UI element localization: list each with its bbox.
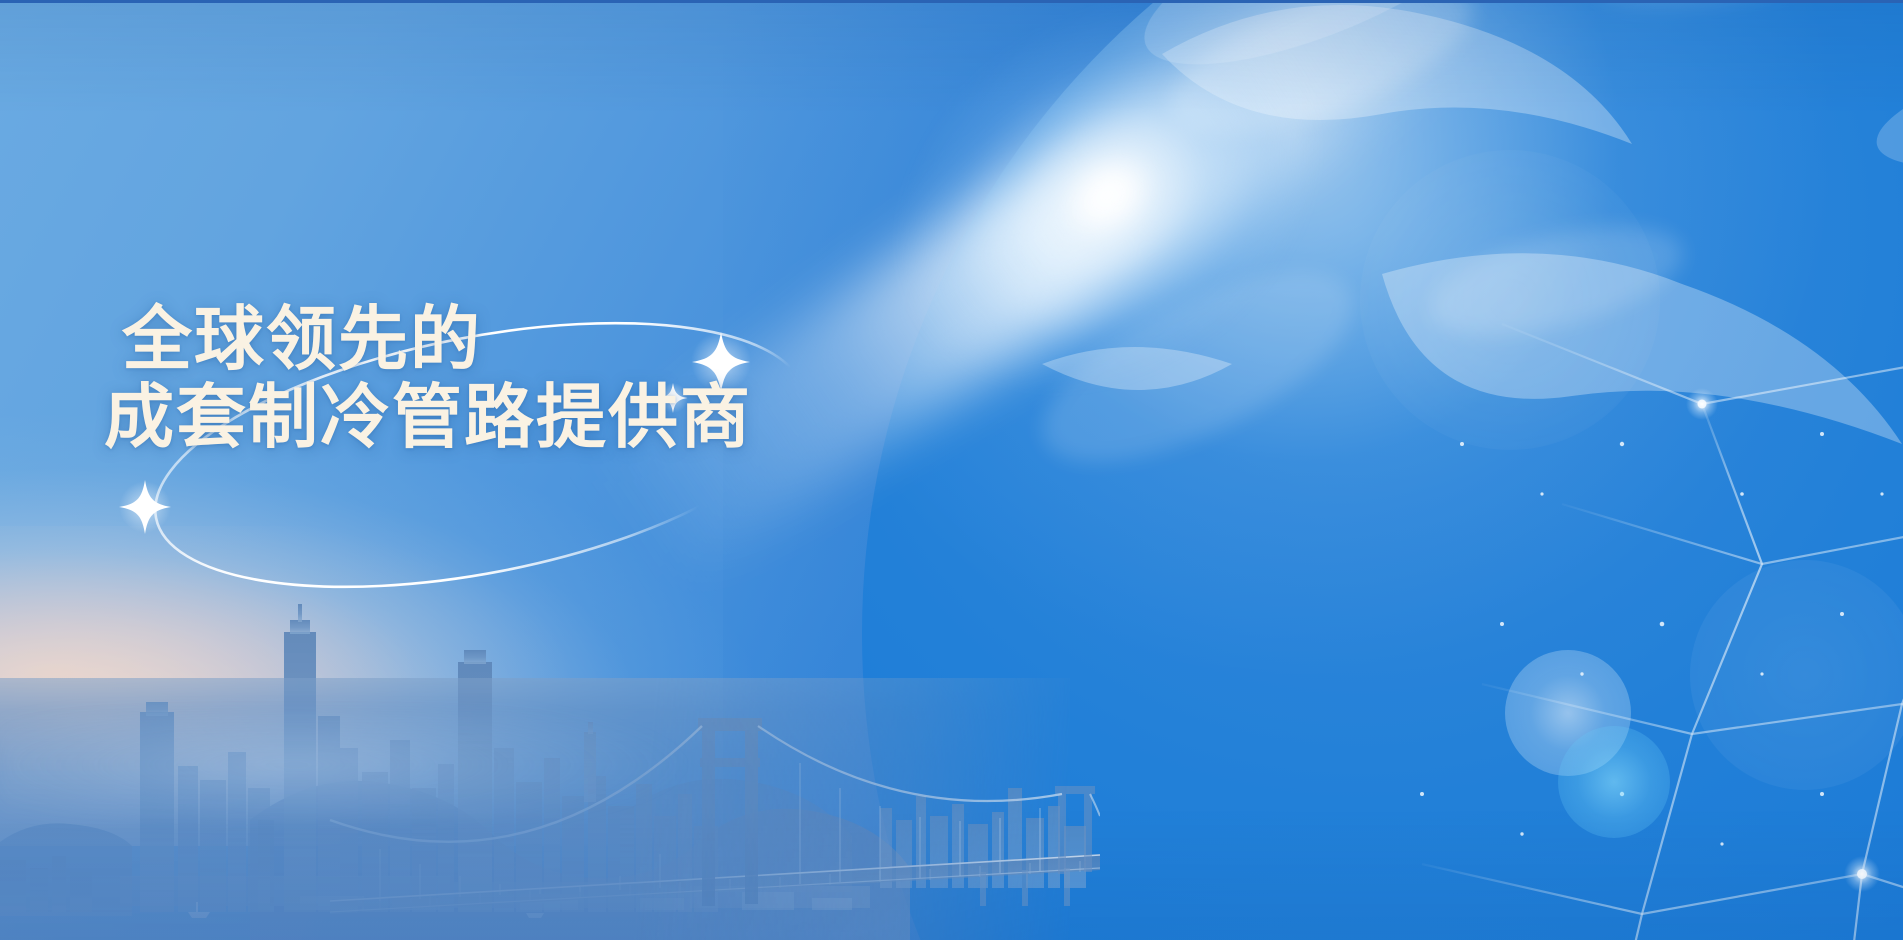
horizon-warm-haze-inner (0, 526, 571, 770)
headline-line-2: 成套制冷管路提供商 (104, 378, 864, 456)
sky-deep-blue-wash (723, 0, 1903, 940)
hero-banner: 全球领先的 成套制冷管路提供商 (0, 0, 1903, 940)
hero-headline: 全球领先的 成套制冷管路提供商 (104, 300, 864, 456)
top-hairline (0, 0, 1903, 3)
headline-line-1: 全球领先的 (104, 300, 864, 378)
